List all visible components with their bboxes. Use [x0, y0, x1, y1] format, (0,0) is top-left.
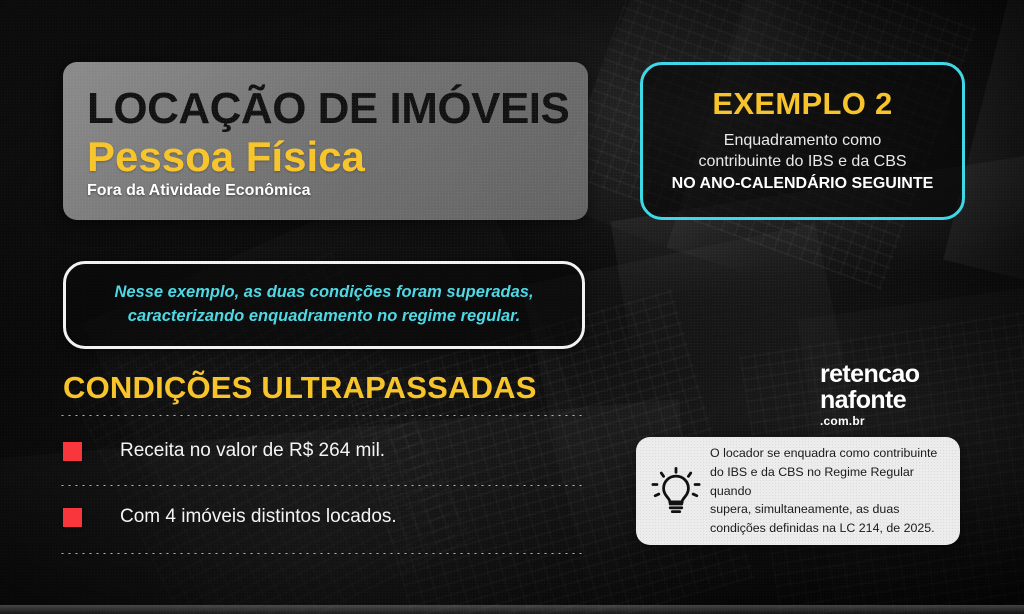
info-callout-box: O locador se enquadra como contribuinte … [636, 437, 960, 545]
info-line-3: supera, simultaneamente, as duas [710, 502, 899, 516]
title-secondary: Pessoa Física [87, 134, 588, 179]
example-subtitle-line2: contribuinte do IBS e da CBS [698, 151, 906, 172]
bullet-square-icon [63, 508, 82, 527]
note-line-1: Nesse exemplo, as duas condições foram s… [114, 281, 533, 305]
divider-dotted-middle [59, 484, 584, 487]
title-primary: LOCAÇÃO DE IMÓVEIS [87, 86, 588, 132]
logo-domain: .com.br [820, 415, 919, 427]
condition-item-2-label: Com 4 imóveis distintos locados. [120, 506, 397, 528]
example-subtitle-line1: Enquadramento como [724, 130, 881, 151]
divider-dotted-bottom [59, 552, 584, 555]
bottom-light-strip [0, 605, 1024, 614]
title-card: LOCAÇÃO DE IMÓVEIS Pessoa Física Fora da… [63, 62, 588, 220]
info-text: O locador se enquadra como contribuinte … [710, 444, 946, 538]
conditions-heading: CONDIÇÕES ULTRAPASSADAS [63, 370, 537, 406]
info-line-4: condições definidas na LC 214, de 2025. [710, 521, 935, 535]
condition-item-2: Com 4 imóveis distintos locados. [63, 506, 588, 528]
example-title: EXEMPLO 2 [712, 87, 892, 121]
info-line-2: do IBS e da CBS no Regime Regular quando [710, 465, 914, 498]
logo-line-2: nafonte [820, 388, 919, 413]
title-tertiary: Fora da Atividade Econômica [87, 182, 588, 200]
logo-line-1: retencao [820, 362, 919, 387]
lightbulb-icon [648, 463, 704, 519]
info-line-1: O locador se enquadra como contribuinte [710, 446, 937, 460]
note-text: Nesse exemplo, as duas condições foram s… [114, 281, 533, 329]
bullet-square-icon [63, 442, 82, 461]
brand-logo: retencao nafonte .com.br [820, 362, 919, 427]
example-emphasis: NO ANO-CALENDÁRIO SEGUINTE [672, 174, 934, 195]
note-box: Nesse exemplo, as duas condições foram s… [63, 261, 585, 349]
divider-dotted-top [59, 414, 584, 417]
condition-item-1-label: Receita no valor de R$ 264 mil. [120, 440, 385, 462]
slide-canvas: LOCAÇÃO DE IMÓVEIS Pessoa Física Fora da… [0, 0, 1024, 614]
note-line-2: caracterizando enquadramento no regime r… [114, 305, 533, 329]
example-card: EXEMPLO 2 Enquadramento como contribuint… [640, 62, 965, 220]
condition-item-1: Receita no valor de R$ 264 mil. [63, 440, 588, 462]
